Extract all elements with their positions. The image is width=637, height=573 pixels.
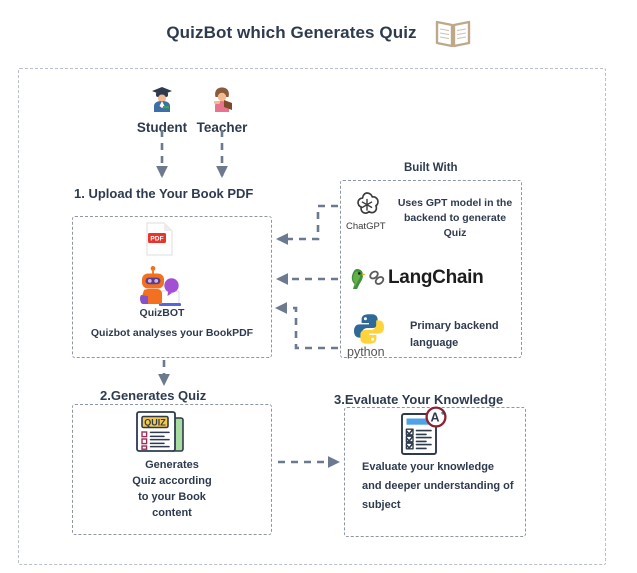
step2-caption-line-4: content	[112, 506, 232, 521]
pdf-file-icon: PDF	[144, 222, 174, 261]
step2-caption-line-1: Generates	[112, 458, 232, 473]
step2-heading: 2.Generates Quiz	[100, 388, 206, 403]
page-title-row: QuizBot which Generates Quiz	[0, 18, 637, 48]
chatgpt-desc-line-3: Quiz	[392, 226, 518, 241]
svg-text:PDF: PDF	[150, 236, 163, 243]
step2-caption-line-3: to your Book	[112, 490, 232, 505]
langchain-brand-label: LangChain	[388, 267, 483, 289]
step1-heading: 1. Upload the Your Book PDF	[74, 186, 253, 201]
step3-caption-line-1: Evaluate your knowledge	[362, 459, 522, 476]
step2-caption-line-2: Quiz according	[112, 474, 232, 489]
chatgpt-desc-line-2: backend to generate	[392, 211, 518, 226]
actor-label-teacher: Teacher	[182, 120, 262, 135]
python-desc-line-2: language	[410, 335, 522, 352]
built-with-heading: Built With	[404, 162, 458, 174]
step3-heading: 3.Evaluate Your Knowledge	[334, 392, 503, 407]
chatgpt-logo-label: ChatGPT	[346, 221, 386, 232]
step1-caption: Quizbot analyses your BookPDF	[87, 326, 257, 341]
quiz-paper-icon: QUIZ	[133, 408, 189, 461]
python-logo-label: python	[347, 345, 385, 359]
quizbot-label: QuizBOT	[122, 306, 202, 321]
a-plus-checklist-icon: A +	[398, 406, 450, 461]
page-title: QuizBot which Generates Quiz	[166, 23, 416, 43]
svg-text:+: +	[441, 408, 446, 417]
actor-teacher: Teacher	[182, 86, 262, 135]
chatgpt-logo-icon	[352, 190, 382, 225]
teacher-person-icon	[182, 86, 262, 118]
svg-text:QUIZ: QUIZ	[144, 417, 166, 427]
step3-caption-line-2: and deeper understanding of	[362, 478, 532, 495]
chatgpt-desc-line-1: Uses GPT model in the	[392, 196, 518, 211]
open-book-icon	[435, 18, 471, 48]
svg-text:A: A	[430, 411, 439, 425]
step3-caption-line-3: subject	[362, 497, 522, 514]
python-desc-line-1: Primary backend	[410, 318, 522, 335]
